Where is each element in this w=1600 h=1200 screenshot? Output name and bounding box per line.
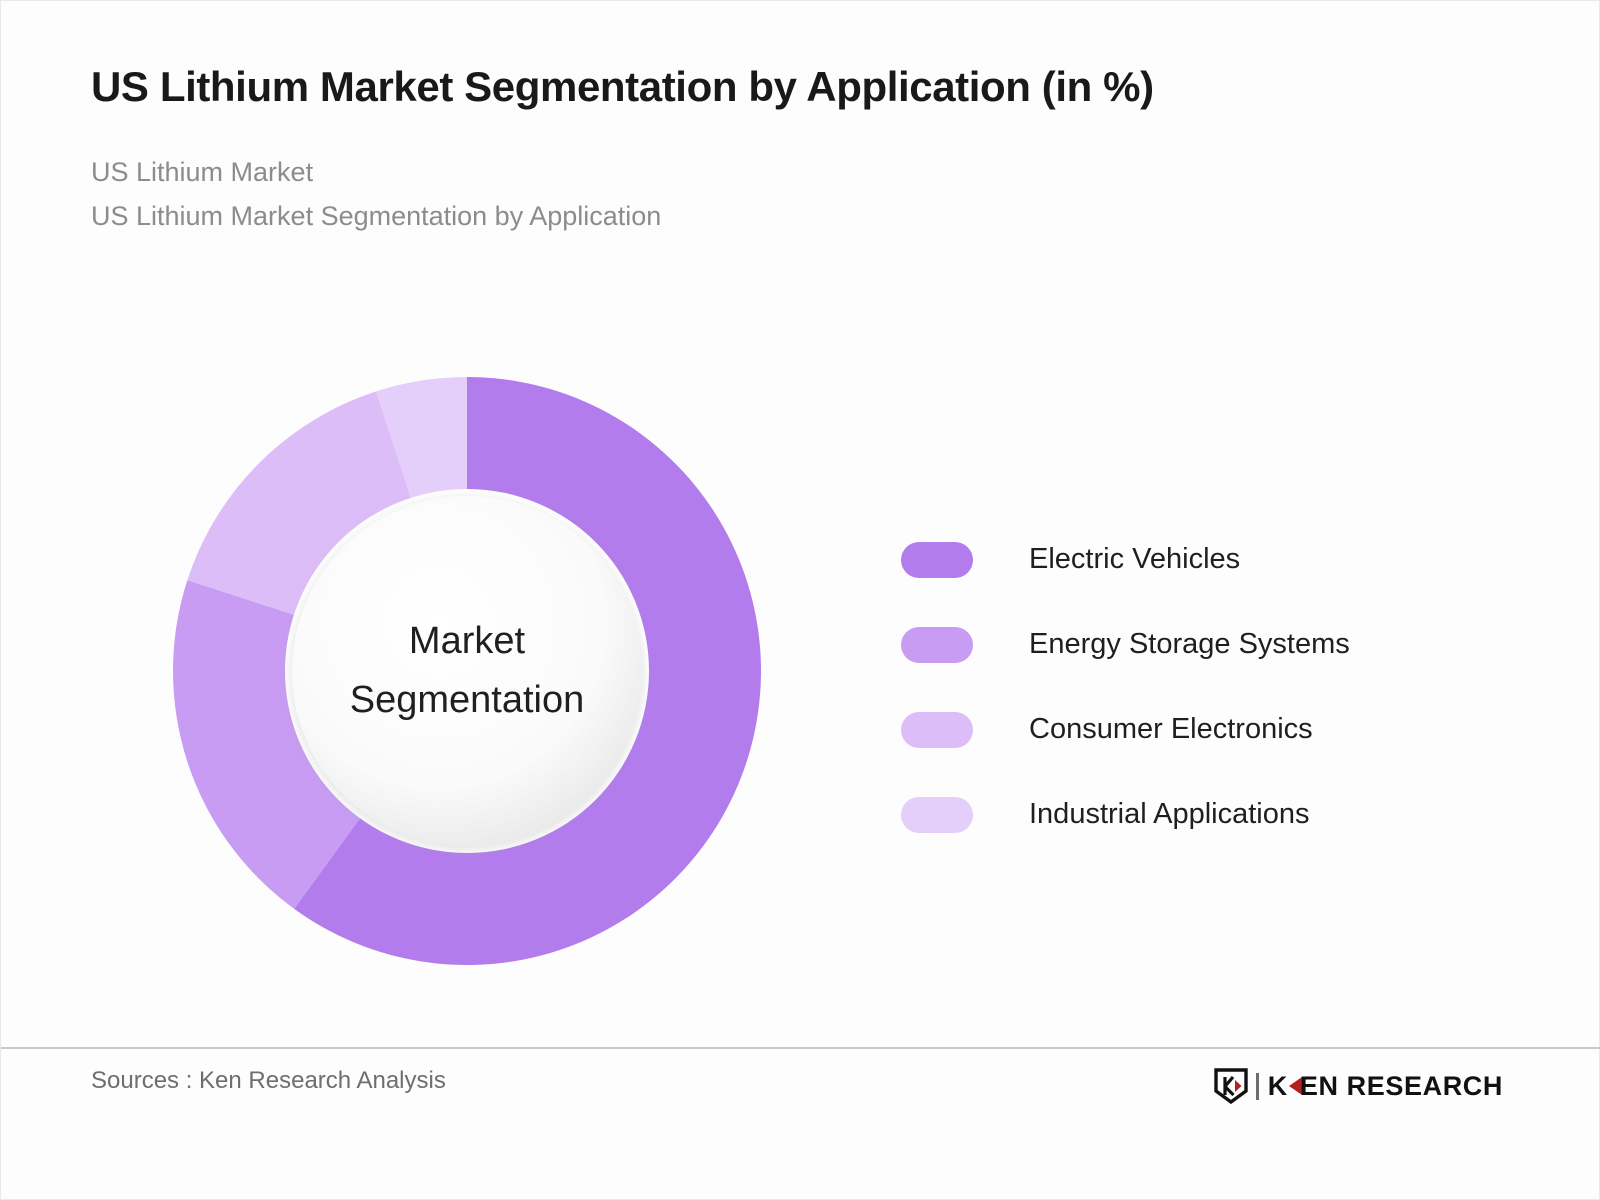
ken-research-logo: KEN RESEARCH	[1214, 1069, 1503, 1103]
donut-svg	[173, 377, 761, 965]
legend-swatch-icon-energy-storage-systems	[901, 627, 973, 663]
legend-item-industrial-applications[interactable]: Industrial Applications	[901, 772, 1350, 857]
subtitle-line-2: US Lithium Market Segmentation by Applic…	[91, 195, 1521, 239]
legend-swatch-icon-industrial-applications	[901, 797, 973, 833]
donut-hub	[292, 496, 642, 846]
shield-k-icon	[1214, 1068, 1248, 1104]
subtitle-block: US Lithium Market US Lithium Market Segm…	[91, 151, 1521, 238]
chart-legend: Electric Vehicles Energy Storage Systems…	[901, 517, 1350, 857]
footer-sources: Sources : Ken Research Analysis	[91, 1067, 446, 1095]
legend-swatch-icon-consumer-electronics	[901, 712, 973, 748]
brand-name-text: EN RESEARCH	[1300, 1073, 1503, 1100]
page-title: US Lithium Market Segmentation by Applic…	[91, 63, 1521, 111]
legend-label-energy-storage-systems: Energy Storage Systems	[1029, 628, 1350, 661]
header: US Lithium Market Segmentation by Applic…	[91, 63, 1521, 239]
donut-chart: Market Segmentation	[173, 377, 761, 965]
legend-label-industrial-applications: Industrial Applications	[1029, 798, 1310, 831]
legend-item-electric-vehicles[interactable]: Electric Vehicles	[901, 517, 1350, 602]
legend-label-electric-vehicles: Electric Vehicles	[1029, 543, 1240, 576]
footer-divider	[1, 1047, 1600, 1049]
brand-wordmark: KEN RESEARCH	[1268, 1073, 1503, 1100]
logo-divider	[1256, 1073, 1259, 1100]
subtitle-line-1: US Lithium Market	[91, 151, 1521, 195]
slide-canvas: US Lithium Market Segmentation by Applic…	[0, 0, 1600, 1200]
chart-area: Market Segmentation Electric Vehicles En…	[1, 331, 1600, 1031]
legend-swatch-icon-electric-vehicles	[901, 542, 973, 578]
legend-item-consumer-electronics[interactable]: Consumer Electronics	[901, 687, 1350, 772]
legend-label-consumer-electronics: Consumer Electronics	[1029, 713, 1313, 746]
legend-item-energy-storage-systems[interactable]: Energy Storage Systems	[901, 602, 1350, 687]
brand-letter-k: K	[1268, 1073, 1288, 1100]
